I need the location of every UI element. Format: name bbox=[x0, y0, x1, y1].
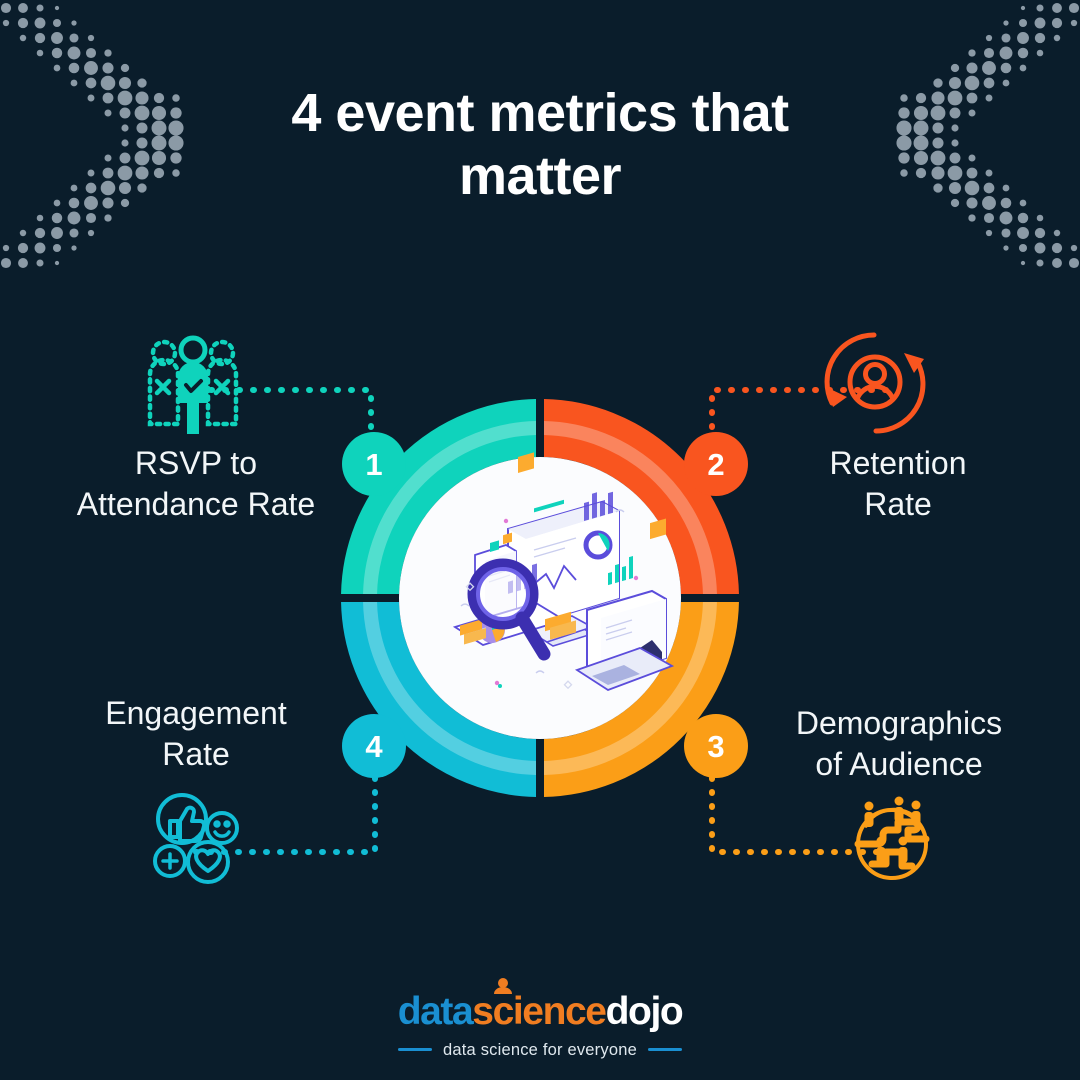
user-refresh-cycle-icon bbox=[822, 331, 928, 435]
metric-badge-3-number: 3 bbox=[707, 731, 724, 762]
footer-logo: datasciencedojo data science for everyon… bbox=[0, 992, 1080, 1059]
metric-label-rsvp-to-attendance-rate: RSVP to Attendance Rate bbox=[40, 443, 352, 525]
tagline-rule-left bbox=[398, 1048, 432, 1051]
logo-text-data: data bbox=[398, 990, 473, 1033]
globe-people-icon bbox=[846, 796, 938, 882]
logo-tagline-row: data science for everyone bbox=[0, 1042, 1080, 1059]
reactions-thumbsup-heart-icon bbox=[150, 793, 246, 885]
metric-badge-4[interactable]: 4 bbox=[342, 714, 406, 778]
metric-label-demographics-of-audience: Demographics of Audience bbox=[740, 703, 1058, 785]
metric-label-engagement-rate: Engagement Rate bbox=[46, 693, 346, 775]
logo-text-dojo: dojo bbox=[606, 990, 683, 1033]
tagline-rule-right bbox=[648, 1048, 682, 1051]
metric-badge-3[interactable]: 3 bbox=[684, 714, 748, 778]
logo-tagline: data science for everyone bbox=[443, 1042, 637, 1059]
metric-badge-1-number: 1 bbox=[365, 449, 382, 480]
logo-wordmark: datasciencedojo bbox=[398, 992, 683, 1031]
metric-label-retention-rate: Retention Rate bbox=[748, 443, 1048, 525]
page-title: 4 event metrics that matter bbox=[0, 82, 1080, 207]
metric-badge-4-number: 4 bbox=[365, 731, 382, 762]
metric-badge-2-number: 2 bbox=[707, 449, 724, 480]
three-people-check-icon bbox=[140, 334, 246, 438]
metric-badge-2[interactable]: 2 bbox=[684, 432, 748, 496]
logo-person-icon bbox=[493, 978, 513, 1000]
